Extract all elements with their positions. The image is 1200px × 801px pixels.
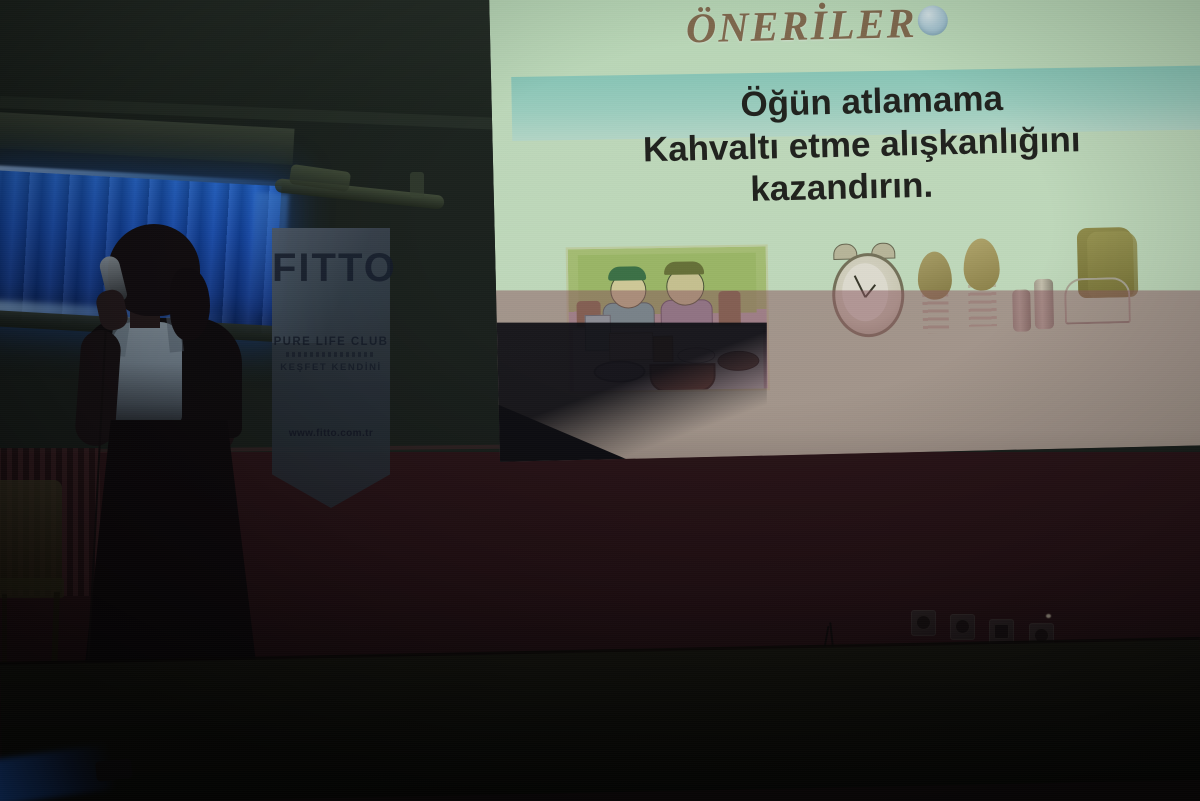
projected-slide: ÖNERİLER Öğün atlamama Kahvaltı etme alı…: [489, 0, 1200, 462]
presenter-hair-lock: [170, 268, 210, 340]
slide-body-text: Öğün atlamama Kahvaltı etme alışkanlığın…: [551, 73, 1194, 216]
boiled-egg: [963, 238, 1000, 291]
outlet-highlight: [1046, 614, 1051, 618]
cartoon-girl-hair: [664, 261, 704, 275]
wall-outlet[interactable]: [911, 610, 936, 636]
floor-plug: [95, 758, 133, 782]
cartoon-boy-hat: [608, 266, 646, 281]
wall-outlet[interactable]: [950, 614, 975, 640]
banner-tagline: PURE LIFE CLUB: [272, 336, 390, 348]
banner-url-text: www.fitto.com.tr: [272, 428, 390, 439]
outlet-socket: [994, 624, 1009, 639]
chair-backrest: [0, 480, 62, 590]
banner-logo-text: FITTO: [272, 248, 390, 288]
banner-subline: KEŞFET KENDİNİ: [272, 362, 390, 373]
outlet-socket: [916, 615, 931, 630]
outlet-socket: [955, 619, 970, 634]
photo-scene: FITTO PURE LIFE CLUB KEŞFET KENDİNİ www.…: [0, 0, 1200, 801]
floor: [0, 640, 1200, 801]
pipe-bracket: [410, 172, 424, 198]
banner-divider: [286, 352, 376, 357]
